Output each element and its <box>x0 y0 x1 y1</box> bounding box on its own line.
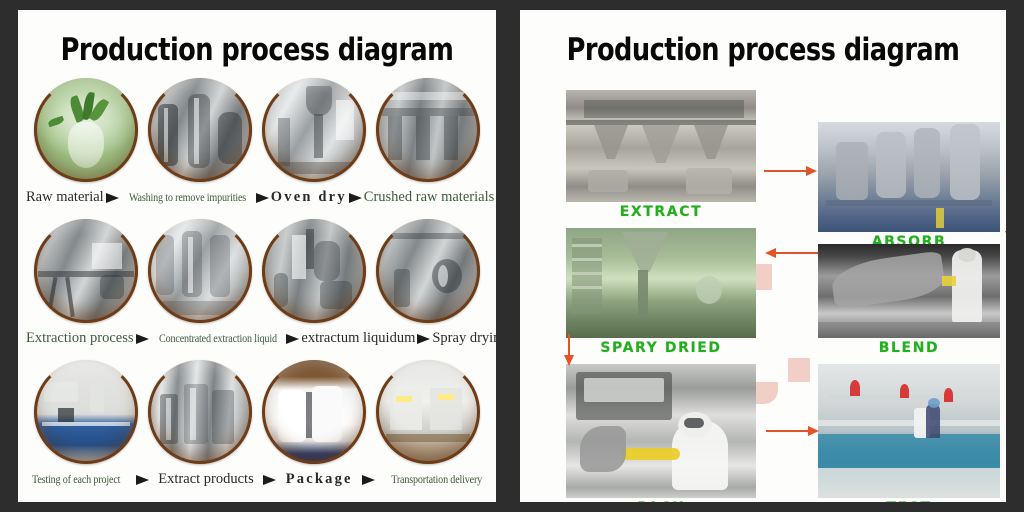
process-step-extract-products[interactable] <box>146 360 254 464</box>
step-label-oven-dry: Oven dry <box>271 189 347 206</box>
left-panel-title: Production process diagram <box>37 32 477 68</box>
screenshot-root: Production process diagram <box>0 0 1024 512</box>
photo-flow-grid: EXTRACT ABSORB <box>536 82 990 482</box>
arrow-pack-to-test <box>766 430 808 432</box>
step-image-packaging-bags <box>262 360 366 464</box>
photo-quality-control-laboratory <box>818 364 1000 498</box>
step-image-washing-tanks <box>148 78 252 182</box>
process-step-crushed-materials[interactable] <box>374 78 482 182</box>
arrow-blend-to-spray <box>776 252 818 254</box>
arrow-spray-to-pack <box>568 334 570 356</box>
step-label-crushed-materials: Crushed raw materials <box>364 189 494 206</box>
step-image-concentration-tanks <box>148 219 252 323</box>
arrow-right-icon <box>263 475 276 485</box>
process-step-spray-drying[interactable] <box>374 219 482 323</box>
caption-spary-dried: SPARY DRIED <box>566 338 756 356</box>
flow-cell-extract[interactable]: EXTRACT <box>566 90 756 202</box>
arrow-right-icon <box>136 475 149 485</box>
process-step-concentrated-liquid[interactable] <box>146 219 254 323</box>
photo-blending-machine-operator <box>818 244 1000 338</box>
left-process-panel: Production process diagram <box>18 10 496 502</box>
step-image-metal-product-cans <box>148 360 252 464</box>
process-row-3 <box>18 360 496 464</box>
step-label-spray-drying: Spray drying <box>432 330 496 347</box>
arrow-extract-to-absorb <box>764 170 806 172</box>
step-label-transportation: Transportation delivery <box>391 474 482 486</box>
watermark-block <box>788 358 810 382</box>
step-image-crushing-line <box>376 78 480 182</box>
flow-cell-test[interactable]: TEST <box>818 364 1000 498</box>
flow-cell-pack[interactable]: PACK <box>566 364 756 498</box>
step-image-extraction-plant <box>34 219 138 323</box>
step-label-extractum-liquidum: extractum liquidum <box>301 330 415 347</box>
caption-pack: PACK <box>566 498 756 502</box>
right-process-panel: Production process diagram <box>520 10 1006 502</box>
step-image-palletized-crates <box>376 360 480 464</box>
process-row-2-labels: Extraction process Concentrated extracti… <box>18 330 496 347</box>
flow-cell-blend[interactable]: BLEND <box>818 244 1000 338</box>
step-image-spray-dryer <box>376 219 480 323</box>
arrow-right-icon <box>417 334 430 344</box>
process-row-1-labels: Raw material Washing to remove impuritie… <box>18 189 496 206</box>
flow-cell-absorb[interactable]: ABSORB <box>818 122 1000 232</box>
photo-packing-machine-operator <box>566 364 756 498</box>
process-row-2 <box>18 219 496 323</box>
step-image-raw-plant-extract <box>34 78 138 182</box>
step-label-testing: Testing of each project <box>32 474 120 486</box>
process-step-extractum-liquidum[interactable] <box>260 219 368 323</box>
process-step-extraction[interactable] <box>32 219 140 323</box>
step-label-extract-products: Extract products <box>158 471 253 488</box>
process-step-washing[interactable] <box>146 78 254 182</box>
step-image-laboratory-bench <box>34 360 138 464</box>
process-row-3-labels: Testing of each project Extract products… <box>18 471 496 488</box>
arrow-right-icon <box>136 334 149 344</box>
caption-extract: EXTRACT <box>566 202 756 220</box>
process-step-testing[interactable] <box>32 360 140 464</box>
flow-cell-spary-dried[interactable]: SPARY DRIED <box>566 228 756 338</box>
arrow-right-icon <box>106 193 119 203</box>
photo-spray-drying-tower <box>566 228 756 338</box>
step-label-package: Package <box>286 471 353 488</box>
step-label-raw-material: Raw material <box>26 189 104 206</box>
process-step-package[interactable] <box>260 360 368 464</box>
panel-divider <box>496 0 520 512</box>
arrow-right-icon <box>362 475 375 485</box>
photo-extraction-vessels-hall <box>566 90 756 202</box>
caption-blend: BLEND <box>818 338 1000 356</box>
step-label-concentrated-liquid: Concentrated extraction liquid <box>159 333 277 345</box>
step-label-extraction-process: Extraction process <box>26 330 134 347</box>
step-image-oven-dryer <box>262 78 366 182</box>
process-step-oven-dry[interactable] <box>260 78 368 182</box>
process-step-transportation[interactable] <box>374 360 482 464</box>
step-label-washing: Washing to remove impurities <box>129 192 246 204</box>
photo-absorption-column-room <box>818 122 1000 232</box>
process-step-raw-material[interactable] <box>32 78 140 182</box>
arrow-right-icon <box>349 193 362 203</box>
arrow-right-icon <box>286 334 299 344</box>
right-panel-title: Production process diagram <box>539 32 986 68</box>
caption-test: TEST <box>818 498 1000 502</box>
step-image-liquid-extract-vessels <box>262 219 366 323</box>
process-row-1 <box>18 78 496 182</box>
arrow-right-icon <box>256 193 269 203</box>
